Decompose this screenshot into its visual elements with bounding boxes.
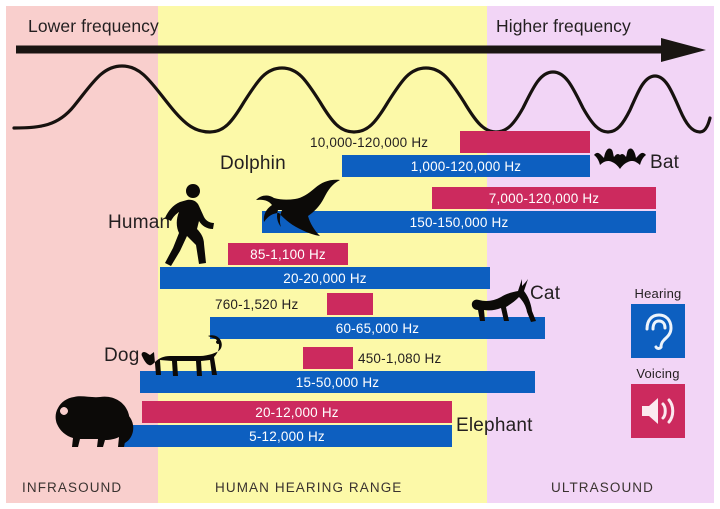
animal-name-cat: Cat	[530, 283, 560, 305]
animal-name-dog: Dog	[104, 345, 139, 367]
animal-name-dolphin: Dolphin	[220, 153, 286, 175]
bar-voicing-dolphin: 7,000-120,000 Hz	[432, 187, 656, 209]
human-runner-silhouette-icon	[163, 181, 215, 269]
bar-voicing-elephant: 20-12,000 Hz	[142, 401, 452, 423]
bar-hearing-human: 20-20,000 Hz	[160, 267, 490, 289]
bar-hearing-elephant: 5-12,000 Hz	[122, 425, 452, 447]
bar-hearing-bat: 1,000-120,000 Hz	[342, 155, 590, 177]
animal-name-elephant: Elephant	[456, 415, 533, 437]
zone-label-infrasound: INFRASOUND	[22, 480, 122, 495]
bat-silhouette-icon	[592, 146, 648, 174]
higher-frequency-label: Higher frequency	[496, 16, 631, 37]
dog-silhouette-icon	[140, 330, 224, 380]
label-voicing-cat: 760-1,520 Hz	[215, 293, 298, 315]
bar-voicing-bat	[460, 131, 590, 153]
legend-hearing-label: Hearing	[618, 286, 698, 301]
dolphin-silhouette-icon	[252, 176, 344, 238]
sound-waveform-icon	[10, 52, 712, 136]
animal-name-human: Human	[108, 212, 170, 234]
bar-voicing-human: 85-1,100 Hz	[228, 243, 348, 265]
legend-voicing-label: Voicing	[618, 366, 698, 381]
legend: Hearing Voicing	[618, 286, 698, 446]
ear-icon	[631, 304, 685, 358]
lower-frequency-label: Lower frequency	[28, 16, 159, 37]
animal-name-bat: Bat	[650, 152, 679, 174]
speaker-icon	[631, 384, 685, 438]
elephant-silhouette-icon	[40, 393, 136, 449]
zone-label-ultrasound: ULTRASOUND	[551, 480, 654, 495]
label-voicing-dog: 450-1,080 Hz	[358, 347, 441, 369]
infographic-canvas: Lower frequency Higher frequency 10,000-…	[0, 0, 720, 509]
zone-label-human-hearing-range: HUMAN HEARING RANGE	[215, 480, 402, 495]
label-voicing-bat: 10,000-120,000 Hz	[310, 131, 428, 153]
bar-voicing-dog	[303, 347, 353, 369]
bar-voicing-cat	[327, 293, 373, 315]
